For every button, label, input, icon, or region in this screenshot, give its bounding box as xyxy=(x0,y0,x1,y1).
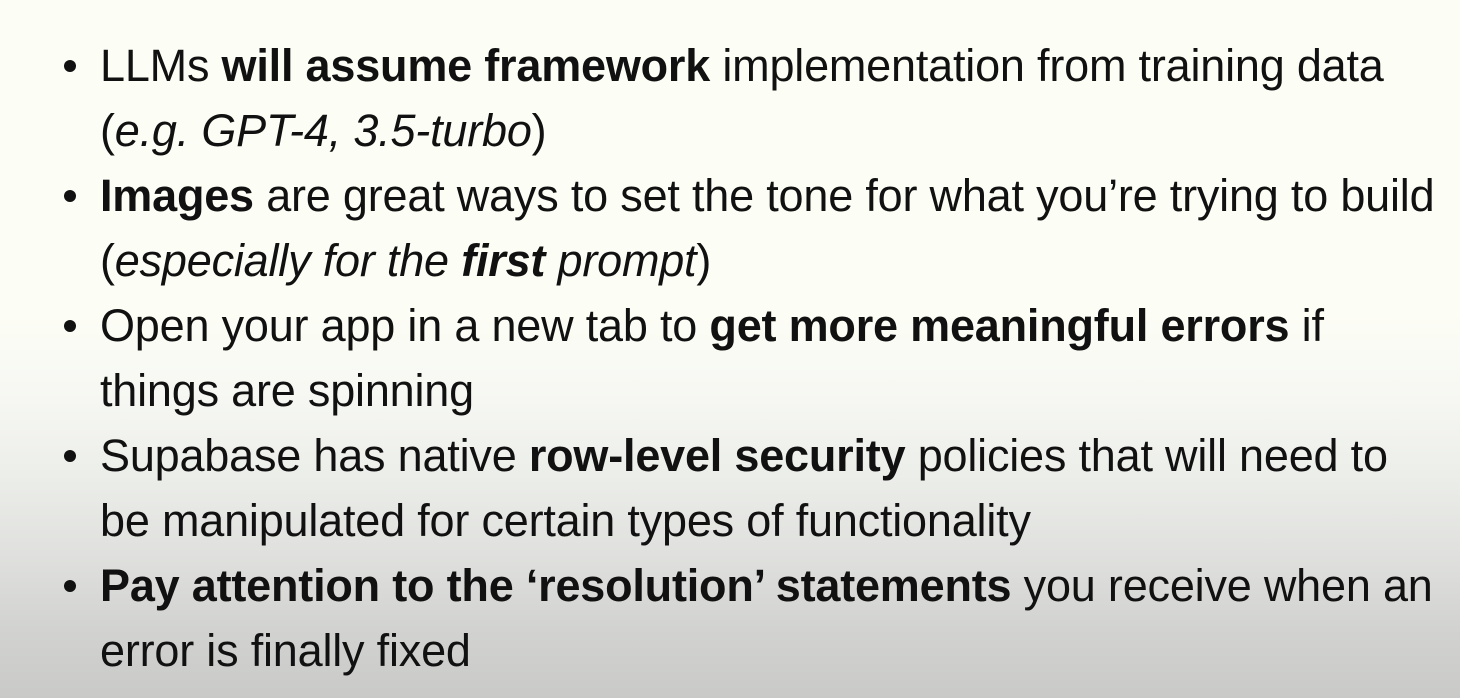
text-run: get more meaningful errors xyxy=(709,300,1289,351)
bullet-item: Open your app in a new tab to get more m… xyxy=(0,293,1460,423)
bullet-text: Open your app in a new tab to get more m… xyxy=(100,293,1440,423)
text-run: Open your app in a new tab to xyxy=(100,300,709,351)
text-run: Pay attention to the ‘resolution’ statem… xyxy=(100,560,1011,611)
text-run: prompt xyxy=(545,235,696,286)
bullet-point-icon xyxy=(64,320,76,332)
text-run: LLMs xyxy=(100,40,222,91)
bullet-item: Images are great ways to set the tone fo… xyxy=(0,163,1460,293)
text-run: first xyxy=(461,235,545,286)
bullet-point-icon xyxy=(64,190,76,202)
text-run: e.g. GPT-4, 3.5-turbo xyxy=(115,105,532,156)
text-run: Supabase has native xyxy=(100,430,529,481)
bullet-item: Pay attention to the ‘resolution’ statem… xyxy=(0,553,1460,683)
text-run: ) xyxy=(532,105,547,156)
text-run: will assume framework xyxy=(222,40,711,91)
text-run: Images xyxy=(100,170,254,221)
bullet-item: Supabase has native row-level security p… xyxy=(0,423,1460,553)
bullet-text: LLMs will assume framework implementatio… xyxy=(100,33,1440,163)
bullet-text: Supabase has native row-level security p… xyxy=(100,423,1440,553)
bullet-item: LLMs will assume framework implementatio… xyxy=(0,33,1460,163)
bullet-point-icon xyxy=(64,580,76,592)
bullet-point-icon xyxy=(64,60,76,72)
bullet-text: Pay attention to the ‘resolution’ statem… xyxy=(100,553,1440,683)
bullet-point-icon xyxy=(64,450,76,462)
bullet-list: LLMs will assume framework implementatio… xyxy=(0,33,1460,683)
text-run: row-level security xyxy=(529,430,906,481)
bullet-text: Images are great ways to set the tone fo… xyxy=(100,163,1440,293)
slide-canvas: LLMs will assume framework implementatio… xyxy=(0,0,1460,698)
text-run: especially for the xyxy=(115,235,461,286)
text-run: ) xyxy=(696,235,711,286)
